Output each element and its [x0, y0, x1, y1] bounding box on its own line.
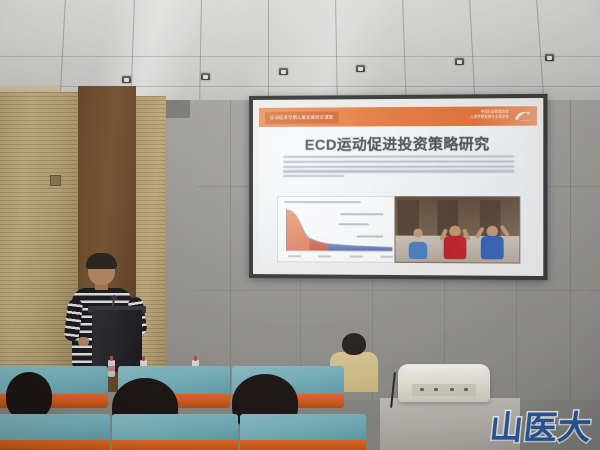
eyeglasses-icon	[89, 266, 113, 271]
presentation-slide: 运动促进早期儿童发展研究课题 中国妇幼保健协会 儿童早期发展专业委员会 ECD运…	[259, 106, 537, 266]
audience-seat[interactable]	[240, 414, 366, 450]
ceiling-downlight-icon	[279, 68, 288, 75]
slide-body-line	[283, 175, 345, 177]
slide-header-tag: 运动促进早期儿童发展研究课题	[265, 111, 338, 123]
watermark: 山医大	[488, 411, 593, 444]
slide-header-org-line2: 儿童早期发展专业委员会	[470, 115, 509, 121]
chart-x-tick	[288, 255, 301, 257]
projector-lid	[405, 366, 483, 376]
seat-back	[240, 414, 366, 443]
screen-surface: 运动促进早期儿童发展研究课题 中国妇幼保健协会 儿童早期发展专业委员会 ECD运…	[253, 98, 543, 276]
table-projector	[398, 364, 490, 402]
photo-child-body	[481, 236, 504, 260]
chart-series-label	[338, 223, 368, 225]
photo-child-head	[413, 229, 422, 238]
photo-child	[406, 229, 431, 260]
audience-member-head	[342, 333, 366, 355]
slide-chart	[277, 196, 399, 263]
projector-port	[464, 388, 468, 391]
slide-photo	[394, 196, 520, 264]
slide-title: ECD运动促进投资策略研究	[259, 133, 537, 155]
photo-child-body	[444, 236, 467, 259]
slide-body-line	[283, 155, 514, 158]
chart-source-caption	[281, 265, 333, 266]
ceiling-downlight-icon	[201, 73, 210, 80]
projector-port	[434, 388, 438, 391]
ceiling-seam	[0, 56, 600, 57]
projector-port	[450, 388, 454, 391]
chart-title	[284, 201, 361, 203]
audience-seat[interactable]	[112, 414, 238, 450]
slide-header-org: 中国妇幼保健协会 儿童早期发展专业委员会	[470, 109, 509, 120]
presenter-hand	[78, 337, 89, 346]
audience-member	[6, 372, 52, 420]
chart-x-tick-labels	[288, 255, 393, 257]
slide-body-line	[283, 165, 514, 168]
projector-port	[420, 388, 424, 391]
chart-x-axis	[286, 251, 392, 252]
seat-back	[0, 414, 110, 443]
seat-base	[112, 440, 238, 450]
photo-child-body	[409, 242, 427, 259]
wall-seam	[230, 100, 231, 400]
ceiling-seam	[268, 0, 269, 108]
slide-body-line	[283, 160, 514, 163]
ceiling-downlight-icon	[545, 54, 554, 61]
ceiling-downlight-icon	[455, 58, 464, 65]
ceiling-downlight-icon	[356, 65, 365, 72]
slide-body-text	[283, 155, 514, 180]
photo-child	[441, 223, 470, 260]
chart-series-label	[357, 235, 383, 237]
water-bottle	[108, 360, 115, 377]
projection-screen[interactable]: 运动促进早期儿童发展研究课题 中国妇幼保健协会 儿童早期发展专业委员会 ECD运…	[249, 94, 547, 280]
audience-member-head	[6, 372, 52, 420]
podium	[92, 310, 142, 372]
chart-x-tick	[380, 256, 393, 258]
chart-y-axis	[286, 208, 287, 251]
chart-x-tick	[319, 255, 332, 257]
wall-vent	[50, 175, 61, 186]
wall-seam	[196, 290, 600, 291]
slide-body-line	[283, 170, 514, 173]
seat-base	[240, 440, 366, 450]
photo-child	[478, 223, 507, 260]
seat-base	[0, 440, 110, 450]
chart-x-tick	[349, 255, 362, 257]
seat-back	[112, 414, 238, 443]
wall-recess	[166, 100, 190, 118]
audience-seat[interactable]	[0, 414, 110, 450]
organization-logo-icon	[513, 109, 533, 122]
chart-series-label	[341, 213, 384, 215]
conference-photo-scene: 运动促进早期儿童发展研究课题 中国妇幼保健协会 儿童早期发展专业委员会 ECD运…	[0, 0, 600, 450]
slide-header-banner: 运动促进早期儿童发展研究课题 中国妇幼保健协会 儿童早期发展专业委员会	[259, 106, 537, 127]
wall-seam	[570, 100, 571, 400]
ceiling-downlight-icon	[122, 76, 131, 83]
